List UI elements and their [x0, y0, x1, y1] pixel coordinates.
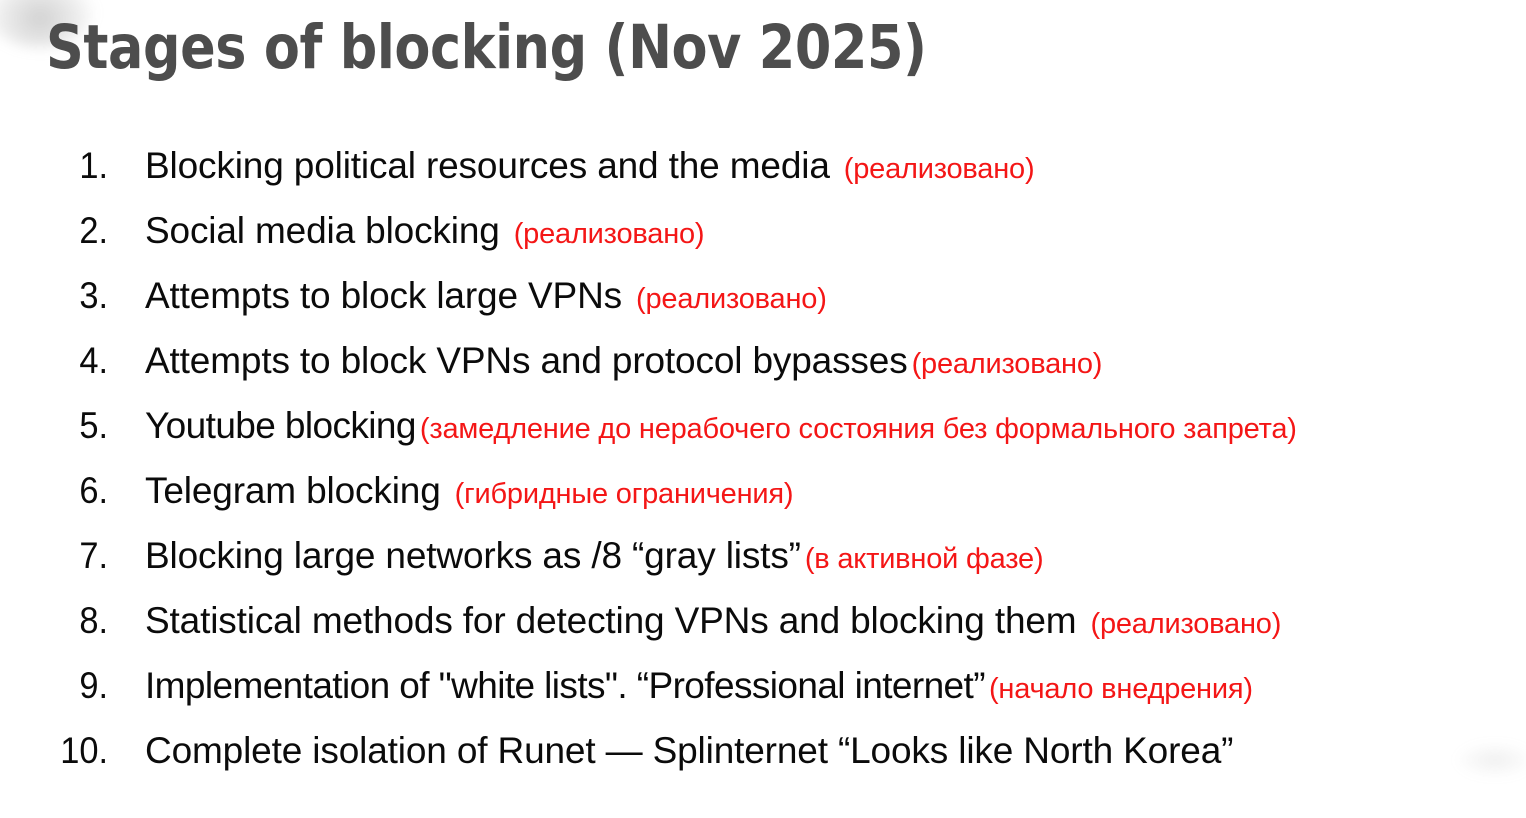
list-item-number: 10. — [4, 722, 108, 779]
list-item: 7. Blocking large networks as /8 “gray l… — [0, 527, 1526, 592]
list-item-body: Implementation of "white lists". “Profes… — [112, 657, 1526, 722]
list-item-number: 5. — [4, 397, 108, 454]
list-item-body: Blocking political resources and the med… — [112, 137, 1526, 202]
list-item-note: (реализовано) — [1090, 608, 1281, 640]
list-item-note: (реализовано) — [514, 218, 705, 250]
list-item-text: Attempts to block VPNs and protocol bypa… — [145, 340, 908, 381]
list-item-text: Statistical methods for detecting VPNs a… — [145, 600, 1076, 641]
list-item-number: 7. — [4, 527, 108, 584]
list-item-text: Blocking large networks as /8 “gray list… — [145, 535, 801, 576]
list-item-body: Attempts to block large VPNs(реализовано… — [112, 267, 1526, 332]
list-item-note: (в активной фазе) — [805, 543, 1044, 575]
list-item-body: Youtube blocking(замедление до нерабочег… — [112, 397, 1526, 462]
list-item-note: (реализовано) — [636, 283, 827, 315]
list-item: 2. Social media blocking(реализовано) — [0, 202, 1526, 267]
list-item-note: (реализовано) — [912, 348, 1103, 380]
list-item-number: 8. — [4, 592, 108, 649]
list-item-body: Statistical methods for detecting VPNs a… — [112, 592, 1526, 657]
list-item-text: Complete isolation of Runet — Splinterne… — [145, 730, 1233, 771]
list-item-text: Social media blocking — [145, 210, 500, 251]
list-item-note: (реализовано) — [844, 153, 1035, 185]
list-item: 10. Complete isolation of Runet — Splint… — [0, 722, 1526, 787]
list-item: 8. Statistical methods for detecting VPN… — [0, 592, 1526, 657]
list-item-number: 6. — [4, 462, 108, 519]
list-item-number: 2. — [4, 202, 108, 259]
list-item-number: 3. — [4, 267, 108, 324]
list-item-body: Blocking large networks as /8 “gray list… — [112, 527, 1526, 592]
list-item-text: Telegram blocking — [145, 470, 441, 511]
list-item-note: (гибридные ограничения) — [455, 478, 794, 510]
list-item-body: Attempts to block VPNs and protocol bypa… — [112, 332, 1526, 397]
list-item-body: Social media blocking(реализовано) — [112, 202, 1526, 267]
list-item: 6. Telegram blocking(гибридные ограничен… — [0, 462, 1526, 527]
list-item-note: (замедление до нерабочего состояния без … — [420, 413, 1297, 445]
list-item-number: 4. — [4, 332, 108, 389]
list-item-body: Complete isolation of Runet — Splinterne… — [112, 722, 1265, 787]
list-item-text: Youtube blocking — [145, 405, 416, 446]
list-item: 1. Blocking political resources and the … — [0, 137, 1526, 202]
list-item-text: Blocking political resources and the med… — [145, 145, 830, 186]
list-item: 4. Attempts to block VPNs and protocol b… — [0, 332, 1526, 397]
list-item: 5. Youtube blocking(замедление до нерабо… — [0, 397, 1526, 462]
list-item-text: Attempts to block large VPNs — [145, 275, 622, 316]
stages-list: 1. Blocking political resources and the … — [0, 137, 1526, 787]
slide-canvas: Stages of blocking (Nov 2025) 1. Blockin… — [0, 0, 1526, 818]
page-title: Stages of blocking (Nov 2025) — [46, 14, 927, 82]
list-item-note: (начало внедрения) — [989, 673, 1253, 705]
list-item-number: 9. — [4, 657, 108, 714]
list-item-number: 1. — [4, 137, 108, 194]
list-item-text: Implementation of "white lists". “Profes… — [145, 665, 985, 706]
list-item-body: Telegram blocking(гибридные ограничения) — [112, 462, 1526, 527]
list-item: 3. Attempts to block large VPNs(реализов… — [0, 267, 1526, 332]
list-item: 9. Implementation of "white lists". “Pro… — [0, 657, 1526, 722]
